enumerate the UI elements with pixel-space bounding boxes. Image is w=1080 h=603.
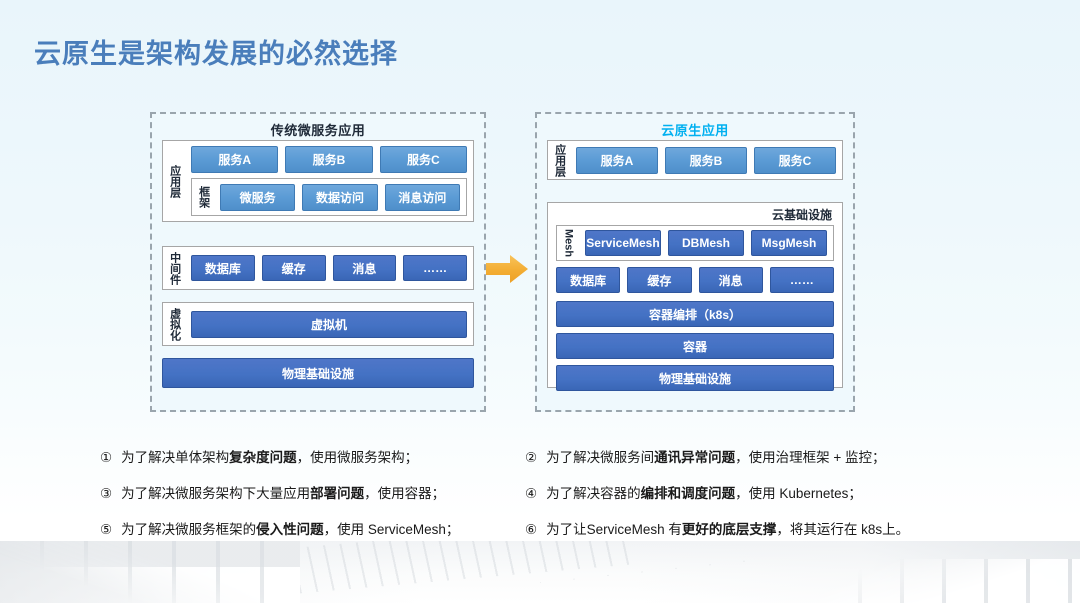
legacy-framework-label-text: 框架 — [197, 186, 208, 208]
transition-arrow-icon — [486, 254, 528, 284]
cloud-service-a[interactable]: 服务A — [576, 147, 658, 174]
footer-grid-pattern — [540, 541, 770, 589]
mesh-msgmesh[interactable]: MsgMesh — [751, 230, 827, 256]
legacy-architecture-panel: 传统微服务应用 应用层 服务A 服务B 服务C 框架 微服务 数据访 — [150, 112, 486, 412]
bullet-number: ⑤ — [100, 522, 112, 538]
legacy-framework-message-access[interactable]: 消息访问 — [385, 184, 460, 211]
legacy-middleware-label-text: 中间件 — [168, 252, 179, 285]
legacy-framework-label: 框架 — [192, 179, 214, 215]
cloud-app-layer-group: 应用层 服务A 服务B 服务C — [547, 140, 843, 180]
cloud-native-panel-title: 云原生应用 — [537, 120, 853, 139]
bullet-number: ⑥ — [525, 522, 537, 538]
cloud-middleware-more[interactable]: …… — [770, 267, 834, 293]
legacy-panel-title: 传统微服务应用 — [152, 120, 484, 139]
cloud-middleware-message[interactable]: 消息 — [699, 267, 763, 293]
cloud-app-layer-label: 应用层 — [548, 141, 570, 179]
legacy-virtual-machine[interactable]: 虚拟机 — [191, 311, 467, 338]
legacy-physical-infrastructure[interactable]: 物理基础设施 — [162, 358, 474, 388]
bullet-text: 为了解决单体架构复杂度问题，使用微服务架构； — [121, 450, 418, 466]
bullet-text: 为了解决微服务间通讯异常问题，使用治理框架 + 监控； — [546, 450, 885, 466]
bullet-text: 为了解决微服务架构下大量应用部署问题，使用容器； — [121, 486, 445, 502]
bullet-item-right-3: ⑥为了让ServiceMesh 有更好的底层支撑，将其运行在 k8s上。 — [525, 522, 975, 538]
footer-blocks-left — [0, 541, 300, 603]
cloud-infrastructure-group: 云基础设施 Mesh ServiceMesh DBMesh MsgMesh 数据… — [547, 202, 843, 388]
legacy-middleware-cache[interactable]: 缓存 — [262, 255, 326, 281]
mesh-group: Mesh ServiceMesh DBMesh MsgMesh — [556, 225, 834, 261]
cloud-middleware-database[interactable]: 数据库 — [556, 267, 620, 293]
cloud-physical-infrastructure[interactable]: 物理基础设施 — [556, 365, 834, 391]
mesh-dbmesh[interactable]: DBMesh — [668, 230, 744, 256]
bullet-number: ① — [100, 450, 112, 466]
cloud-infrastructure-label: 云基础设施 — [772, 206, 832, 223]
bullet-text: 为了解决微服务框架的侵入性问题，使用 ServiceMesh； — [121, 522, 459, 538]
legacy-framework-microservice[interactable]: 微服务 — [220, 184, 295, 211]
legacy-app-layer-group: 应用层 服务A 服务B 服务C 框架 微服务 数据访问 消息访问 — [162, 140, 474, 222]
mesh-label: Mesh — [557, 226, 579, 260]
bullet-number: ② — [525, 450, 537, 466]
decorative-footer-image — [0, 541, 1080, 603]
mesh-servicemesh[interactable]: ServiceMesh — [585, 230, 661, 256]
footer-blocks-right — [820, 559, 1080, 603]
legacy-service-c[interactable]: 服务C — [380, 146, 467, 173]
legacy-virtualization-label-text: 虚拟化 — [168, 308, 179, 341]
bullet-item-left-3: ⑤为了解决微服务框架的侵入性问题，使用 ServiceMesh； — [100, 522, 530, 538]
bullet-number: ④ — [525, 486, 537, 502]
legacy-app-layer-content: 服务A 服务B 服务C 框架 微服务 数据访问 消息访问 — [185, 141, 473, 221]
legacy-middleware-items: 数据库 缓存 消息 …… — [185, 247, 473, 289]
cloud-middleware-row: 数据库 缓存 消息 …… — [556, 267, 834, 293]
legacy-framework-items: 微服务 数据访问 消息访问 — [214, 179, 466, 215]
legacy-middleware-more[interactable]: …… — [403, 255, 467, 281]
container-bar[interactable]: 容器 — [556, 333, 834, 359]
legacy-service-a[interactable]: 服务A — [191, 146, 278, 173]
slide-canvas: 云原生是架构发展的必然选择 传统微服务应用 应用层 服务A 服务B 服务C 框架 — [0, 0, 1080, 603]
legacy-framework-group: 框架 微服务 数据访问 消息访问 — [191, 178, 467, 216]
legacy-framework-data-access[interactable]: 数据访问 — [302, 184, 377, 211]
bullet-item-left-2: ③为了解决微服务架构下大量应用部署问题，使用容器； — [100, 486, 530, 502]
page-title: 云原生是架构发展的必然选择 — [34, 32, 398, 71]
cloud-native-panel: 云原生应用 应用层 服务A 服务B 服务C 框架下沉 云基础设施 — [535, 112, 855, 412]
container-orchestration-bar[interactable]: 容器编排（k8s） — [556, 301, 834, 327]
mesh-label-text: Mesh — [562, 229, 573, 257]
bullet-text: 为了让ServiceMesh 有更好的底层支撑，将其运行在 k8s上。 — [546, 522, 909, 538]
legacy-middleware-database[interactable]: 数据库 — [191, 255, 255, 281]
legacy-middleware-label: 中间件 — [163, 247, 185, 289]
cloud-service-b[interactable]: 服务B — [665, 147, 747, 174]
bullet-item-right-1: ②为了解决微服务间通讯异常问题，使用治理框架 + 监控； — [525, 450, 975, 466]
cloud-app-layer-services: 服务A 服务B 服务C — [570, 141, 842, 179]
bullet-item-left-1: ①为了解决单体架构复杂度问题，使用微服务架构； — [100, 450, 530, 466]
bullet-item-right-2: ④为了解决容器的编排和调度问题，使用 Kubernetes； — [525, 486, 975, 502]
legacy-app-layer-label: 应用层 — [163, 141, 185, 221]
cloud-app-layer-label-text: 应用层 — [553, 144, 564, 177]
legacy-virtualization-label: 虚拟化 — [163, 303, 185, 345]
legacy-middleware-message[interactable]: 消息 — [333, 255, 397, 281]
legacy-virtualization-group: 虚拟化 虚拟机 — [162, 302, 474, 346]
mesh-items: ServiceMesh DBMesh MsgMesh — [579, 226, 833, 260]
legacy-middleware-group: 中间件 数据库 缓存 消息 …… — [162, 246, 474, 290]
bullet-number: ③ — [100, 486, 112, 502]
legacy-app-layer-label-text: 应用层 — [168, 165, 179, 198]
bullet-text: 为了解决容器的编排和调度问题，使用 Kubernetes； — [546, 486, 862, 502]
legacy-service-b[interactable]: 服务B — [285, 146, 372, 173]
cloud-middleware-cache[interactable]: 缓存 — [627, 267, 691, 293]
cloud-service-c[interactable]: 服务C — [754, 147, 836, 174]
legacy-virtualization-items: 虚拟机 — [185, 303, 473, 345]
